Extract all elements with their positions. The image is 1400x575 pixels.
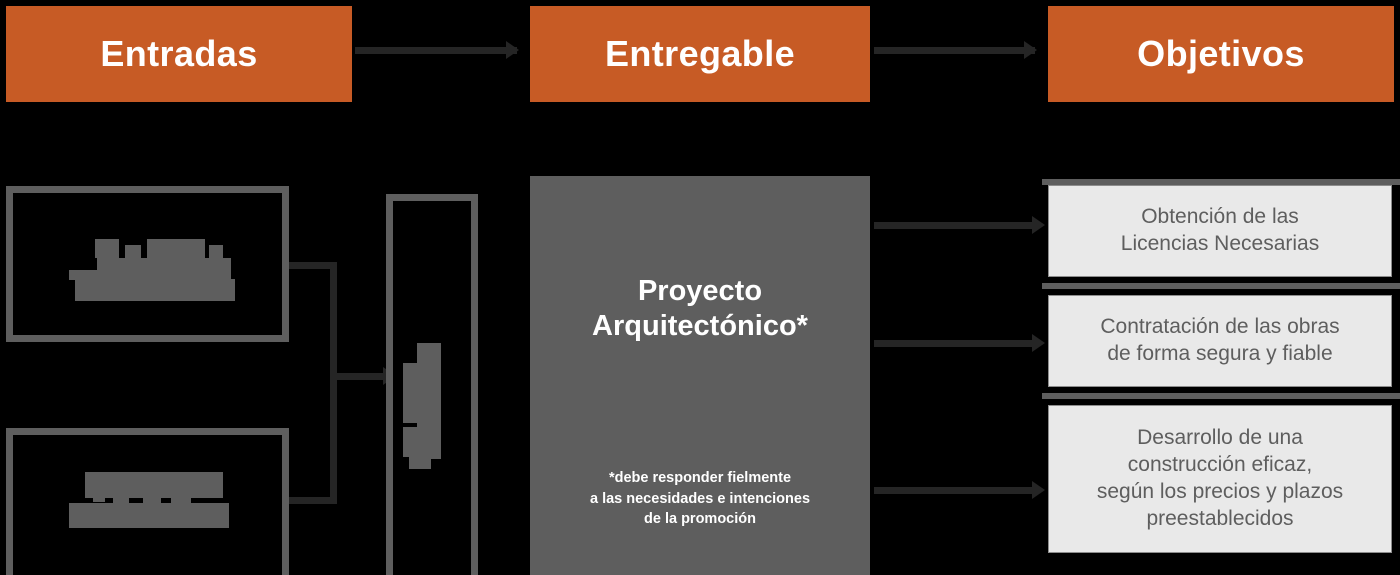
header-arrow-entregable-to-objetivos bbox=[874, 47, 1035, 54]
header-label-objetivos: Objetivos bbox=[1137, 36, 1305, 72]
objective-box-1: Obtención de las Licencias Necesarias bbox=[1048, 185, 1392, 277]
connector-branch-bottom bbox=[289, 497, 337, 504]
arrow-to-objective-2 bbox=[874, 340, 1034, 347]
objective-box-2: Contratación de las obras de forma segur… bbox=[1048, 295, 1392, 387]
redacted-text-block bbox=[69, 503, 229, 528]
redacted-text-block bbox=[75, 279, 235, 301]
connector-arrow-to-process bbox=[337, 373, 385, 380]
redacted-text-block bbox=[125, 245, 141, 258]
objective-label-3: Desarrollo de una construcción eficaz, s… bbox=[1097, 425, 1343, 533]
objective-guide-3 bbox=[1042, 393, 1400, 399]
deliverable-title: Proyecto Arquitectónico* bbox=[592, 274, 808, 344]
header-column-objetivos: Objetivos bbox=[1048, 6, 1394, 102]
header-label-entradas: Entradas bbox=[100, 36, 257, 72]
deliverable-footnote: *debe responder fielmente a las necesida… bbox=[530, 468, 870, 530]
header-label-entregable: Entregable bbox=[605, 36, 795, 72]
objective-label-1: Obtención de las Licencias Necesarias bbox=[1121, 204, 1319, 258]
redacted-text-block bbox=[147, 239, 205, 258]
redacted-text-block bbox=[209, 245, 223, 258]
connector-spine bbox=[330, 262, 337, 504]
deliverable-panel: Proyecto Arquitectónico* *debe responder… bbox=[530, 176, 870, 575]
objective-guide-2 bbox=[1042, 283, 1400, 289]
arrow-to-objective-3 bbox=[874, 487, 1034, 494]
redacted-text-block bbox=[107, 262, 119, 272]
process-box-vertical bbox=[386, 194, 478, 575]
input-box-2 bbox=[6, 428, 289, 575]
arrow-to-objective-1 bbox=[874, 222, 1034, 229]
redacted-text-block bbox=[403, 427, 419, 457]
objective-label-2: Contratación de las obras de forma segur… bbox=[1100, 314, 1339, 368]
redacted-text-block bbox=[403, 363, 419, 423]
redacted-text-block bbox=[95, 239, 119, 258]
redacted-text-block bbox=[409, 455, 431, 469]
redacted-text-block bbox=[417, 343, 441, 459]
input-box-1 bbox=[6, 186, 289, 342]
redacted-text-block bbox=[93, 488, 105, 502]
header-column-entregable: Entregable bbox=[530, 6, 870, 102]
objective-box-3: Desarrollo de una construcción eficaz, s… bbox=[1048, 405, 1392, 553]
header-column-entradas: Entradas bbox=[6, 6, 352, 102]
redacted-text-block bbox=[85, 472, 223, 498]
header-arrow-entradas-to-entregable bbox=[355, 47, 517, 54]
diagram-canvas: Entradas Entregable Objetivos bbox=[0, 0, 1400, 575]
